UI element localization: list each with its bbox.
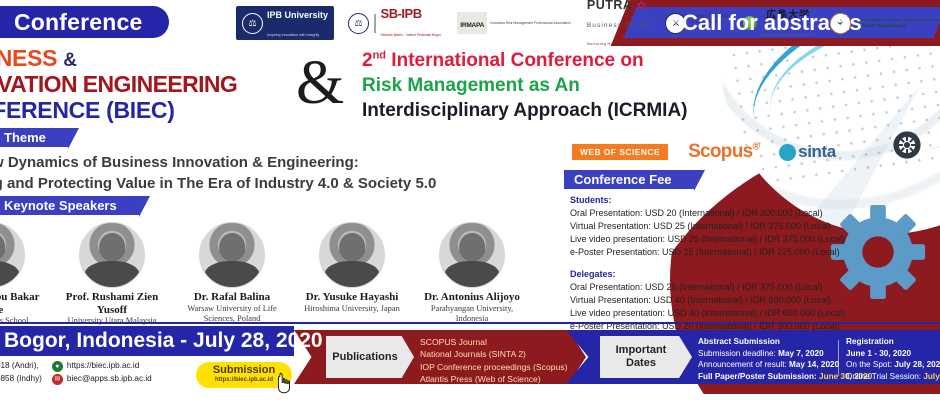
fee-line: Oral Presentation: USD 20 (International… xyxy=(570,207,845,220)
scopus-registered-mark: ® xyxy=(753,142,760,153)
icrmia-title-line3: Interdisciplinary Approach (ICRMIA) xyxy=(362,98,688,123)
joining-ampersand: & xyxy=(296,52,344,114)
speaker-name: Dr. Yusuke Hayashi xyxy=(298,291,406,304)
important-dates-label-line1: Important xyxy=(616,344,667,357)
putra-logo-primary: PUTRA xyxy=(587,0,633,12)
important-dates-label-line2: Dates xyxy=(616,357,667,370)
biec-title-line3: CONFERENCE (BIEC) xyxy=(0,98,237,124)
phone-number-2: +62-857-3255-9858 (Indhy) xyxy=(0,373,42,386)
ipb-logo-primary: IPB University xyxy=(267,10,328,20)
speaker-affiliation: Parahyangan University, Indonesia xyxy=(418,304,526,324)
bottom-white-edge xyxy=(0,394,940,400)
putra-logo-secondary: Business School xyxy=(587,22,652,29)
submission-deadline-label: Submission deadline: xyxy=(698,349,776,358)
sb-ipb-logo: ⚖ SB-IPB Sekolah Bisnis - Institut Perta… xyxy=(348,9,441,37)
conference-top-tab: Conference xyxy=(0,6,169,38)
fee-line: e-Poster Presentation: USD 15 (Internati… xyxy=(570,246,845,259)
full-paper-label: Full Paper/Poster Submission: xyxy=(698,372,817,381)
publication-item: IOP Conference proceedings (Scopus) xyxy=(420,361,567,373)
speaker-card: Prof. Rushami Zien Yusoff University Uta… xyxy=(58,222,166,336)
envelope-icon: ✉ xyxy=(52,374,63,385)
registration-list: Registration June 1 - 30, 2020 On the Sp… xyxy=(846,336,940,383)
fee-line: Live video presentation: USD 25 (Interna… xyxy=(570,233,845,246)
icrmia-title-line2: Risk Management as An xyxy=(362,73,688,98)
conference-fee-details: Students: Oral Presentation: USD 20 (Int… xyxy=(570,194,845,333)
phone-number-1: +62-812-9874-818 (Andri), xyxy=(0,360,42,373)
fee-line: Live video presentation: USD 40 (Interna… xyxy=(570,307,845,320)
speaker-affiliation: Hiroshima University, Japan xyxy=(298,304,406,314)
online-trial-label: Online Trial Session: xyxy=(846,372,921,381)
globe-icon: ● xyxy=(52,361,63,372)
fee-line: Virtual Presentation: USD 25 (Internatio… xyxy=(570,220,845,233)
theme-text: The New Dynamics of Business Innovation … xyxy=(0,152,436,195)
speaker-name: Dr. Rafal Balina xyxy=(178,291,286,304)
icrmia-ordinal-number: 2 xyxy=(362,50,373,71)
scopus-label: Scopus xyxy=(688,141,752,162)
divider xyxy=(374,14,376,33)
sb-ipb-seal-icon: ⚖ xyxy=(348,13,369,34)
submission-deadline-value: May 7, 2020 xyxy=(778,349,824,358)
irmapa-logo-primary: IRMAPA xyxy=(460,22,484,29)
avatar xyxy=(0,222,25,288)
keynote-speakers-tag: Keynote Speakers xyxy=(0,196,139,215)
speaker-name: Prof. Dr. Abu Bakar Sade xyxy=(0,291,46,316)
sb-ipb-logo-secondary: Sekolah Bisnis - Institut Pertanian Bogo… xyxy=(381,33,442,37)
speaker-card: Prof. Dr. Abu Bakar Sade Putra Business … xyxy=(0,222,46,336)
publications-label: Publications xyxy=(326,336,414,378)
on-the-spot-row: On the Spot: July 28, 2020 xyxy=(846,359,940,371)
on-the-spot-value: July 28, 2020 xyxy=(894,360,940,369)
speaker-card: Dr. Yusuke Hayashi Hiroshima University,… xyxy=(298,222,406,336)
icrmia-title-line1: 2nd International Conference on xyxy=(362,48,688,73)
important-dates-label: Important Dates xyxy=(600,336,692,378)
hand-cursor-icon xyxy=(274,372,294,394)
putra-logo-tertiary: Nurturing Human Leaders xyxy=(587,42,640,46)
biec-title-line2: INNOVATION ENGINEERING xyxy=(0,72,237,98)
fee-line: e-Poster Presentation: USD 20 (Internati… xyxy=(570,320,845,333)
avatar xyxy=(79,222,145,288)
web-of-science-logo: WEB OF SCIENCE xyxy=(572,144,668,160)
email-row[interactable]: ✉ biec@apps.sb.ipb.ac.id xyxy=(52,373,152,386)
contact-info: +62-812-9874-818 (Andri), +62-857-3255-9… xyxy=(0,360,152,385)
event-date-label: Bogor, Indonesia - July 28, 2020 xyxy=(4,326,323,356)
conference-poster: Conference ⚖ IPB University Inspiring In… xyxy=(0,0,940,400)
keynote-speakers-list: Prof. Dr. Abu Bakar Sade Putra Business … xyxy=(0,222,526,336)
registration-divider xyxy=(838,340,839,376)
scopus-logo: Scopus® xyxy=(688,141,759,163)
speaker-card: Dr. Antonius Alijoyo Parahyangan Univers… xyxy=(418,222,526,336)
web-column: ● https://biec.ipb.ac.id ✉ biec@apps.sb.… xyxy=(52,360,152,385)
small-gear-icon xyxy=(890,128,924,162)
website-url[interactable]: https://biec.ipb.ac.id xyxy=(67,360,139,373)
speaker-card: Dr. Rafal Balina Warsaw University of Li… xyxy=(178,222,286,336)
on-the-spot-label: On the Spot: xyxy=(846,360,892,369)
fee-group-heading: Delegates: xyxy=(570,268,845,281)
speaker-name: Dr. Antonius Alijoyo xyxy=(418,291,526,304)
sb-ipb-logo-primary: SB-IPB xyxy=(381,6,422,21)
theme-line-2: Creating and Protecting Value in The Era… xyxy=(0,173,436,194)
irmapa-mark: IRMAPA xyxy=(457,12,487,34)
speaker-affiliation: Warsaw University of Life Sciences, Pola… xyxy=(178,304,286,324)
sinta-mark-icon xyxy=(779,144,796,161)
icrmia-title-line1-rest: International Conference on xyxy=(386,50,644,71)
conference-fee-tag: Conference Fee xyxy=(564,170,694,189)
online-trial-value: July 27, 2020 xyxy=(923,372,940,381)
online-trial-row: Online Trial Session: July 27, 2020 xyxy=(846,371,940,383)
irmapa-logo: IRMAPA Indonesia Risk Management Profess… xyxy=(455,8,573,38)
call-for-abstracts-label: Call for abstracts xyxy=(644,8,934,38)
registration-heading: Registration xyxy=(846,336,940,348)
icrmia-ordinal-suffix: nd xyxy=(373,50,386,62)
ipb-university-logo: ⚖ IPB University Inspiring Innovation wi… xyxy=(236,6,334,40)
speaker-name: Prof. Rushami Zien Yusoff xyxy=(58,291,166,316)
phone-column: +62-812-9874-818 (Andri), +62-857-3255-9… xyxy=(0,360,42,385)
ipb-logo-secondary: Inspiring Innovation with Integrity xyxy=(267,33,319,37)
biec-title: BUSINESS & INNOVATION ENGINEERING CONFER… xyxy=(0,46,237,123)
icrmia-title: 2nd International Conference on Risk Man… xyxy=(362,48,688,123)
indexing-logos: WEB OF SCIENCE Scopus® sinta xyxy=(572,141,836,163)
announcement-value: May 14, 2020 xyxy=(789,360,839,369)
irmapa-logo-secondary: Indonesia Risk Management Professional A… xyxy=(490,21,571,25)
avatar xyxy=(199,222,265,288)
putra-business-school-logo: PUTRA ✿ Business School Nurturing Human … xyxy=(587,9,652,37)
event-date-bar: Bogor, Indonesia - July 28, 2020 xyxy=(0,326,294,356)
fee-group-heading: Students: xyxy=(570,194,845,207)
biec-title-ampersand: & xyxy=(63,50,76,71)
theme-tag: Theme xyxy=(0,128,68,147)
ipb-seal-icon: ⚖ xyxy=(242,13,263,34)
speaker-affiliation: University Utara Malaysia xyxy=(58,316,166,326)
sinta-label: sinta xyxy=(798,142,836,162)
sinta-logo: sinta xyxy=(779,142,836,162)
fee-line: Oral Presentation: USD 25 (International… xyxy=(570,281,845,294)
publications-list: SCOPUS Journal National Journals (SINTA … xyxy=(420,336,567,386)
avatar xyxy=(439,222,505,288)
biec-title-line1: BUSINESS xyxy=(0,45,57,71)
publication-item: SCOPUS Journal xyxy=(420,336,567,348)
publication-item: National Journals (SINTA 2) xyxy=(420,348,567,360)
registration-period: June 1 - 30, 2020 xyxy=(846,348,940,360)
spacer xyxy=(570,259,845,268)
announcement-label: Announcement of result: xyxy=(698,360,787,369)
publication-item: Atlantis Press (Web of Science) xyxy=(420,373,567,385)
theme-line-1: The New Dynamics of Business Innovation … xyxy=(0,152,436,173)
website-row[interactable]: ● https://biec.ipb.ac.id xyxy=(52,360,152,373)
fee-line: Virtual Presentation: USD 40 (Internatio… xyxy=(570,294,845,307)
avatar xyxy=(319,222,385,288)
email-address[interactable]: biec@apps.sb.ipb.ac.id xyxy=(67,373,152,386)
